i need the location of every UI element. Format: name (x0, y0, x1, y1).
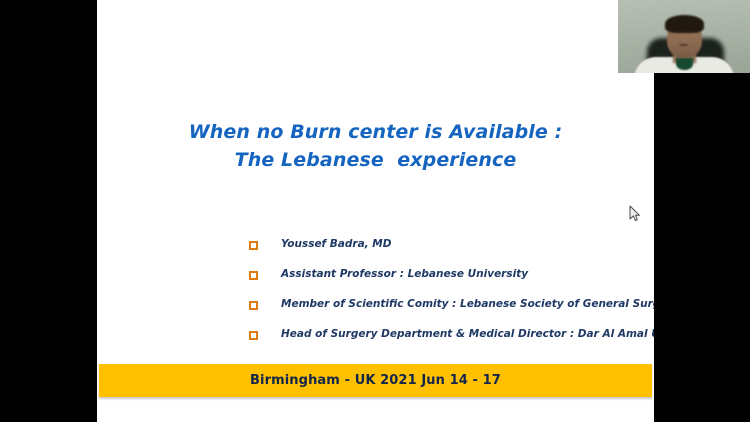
list-item-label: Member of Scientific Comity : Lebanese S… (281, 297, 654, 312)
list-item-label: Head of Surgery Department & Medical Dir… (281, 327, 654, 342)
list-item: Youssef Badra, MD (249, 237, 654, 267)
collar-shape (676, 58, 693, 70)
screen-share-viewport: When no Burn center is Available : The L… (0, 0, 750, 422)
square-bullet-icon (249, 331, 258, 340)
list-item-label: Assistant Professor : Lebanese Universit… (281, 267, 654, 282)
slide-title-line-1: When no Burn center is Available : (97, 118, 654, 146)
hair-shape (665, 15, 705, 33)
list-item: Assistant Professor : Lebanese Universit… (249, 267, 654, 297)
list-item: Member of Scientific Comity : Lebanese S… (249, 297, 654, 327)
list-item: Head of Surgery Department & Medical Dir… (249, 327, 654, 357)
slide-footer-text: Birmingham - UK 2021 Jun 14 - 17 (250, 373, 501, 388)
participant-video-thumbnail[interactable] (618, 0, 750, 73)
square-bullet-icon (249, 241, 258, 250)
list-item-label: Youssef Badra, MD (281, 237, 654, 252)
slide-bullet-list: Youssef Badra, MD Assistant Professor : … (249, 237, 654, 357)
mouth-shape (679, 44, 688, 46)
slide-title: When no Burn center is Available : The L… (97, 118, 654, 174)
square-bullet-icon (249, 271, 258, 280)
slide-footer-banner: Birmingham - UK 2021 Jun 14 - 17 (99, 364, 652, 397)
slide-title-line-2: The Lebanese experience (97, 146, 654, 174)
letterbox-filler-right (654, 73, 750, 422)
square-bullet-icon (249, 301, 258, 310)
eye-shape (689, 30, 693, 32)
presentation-slide[interactable]: When no Burn center is Available : The L… (97, 0, 654, 422)
